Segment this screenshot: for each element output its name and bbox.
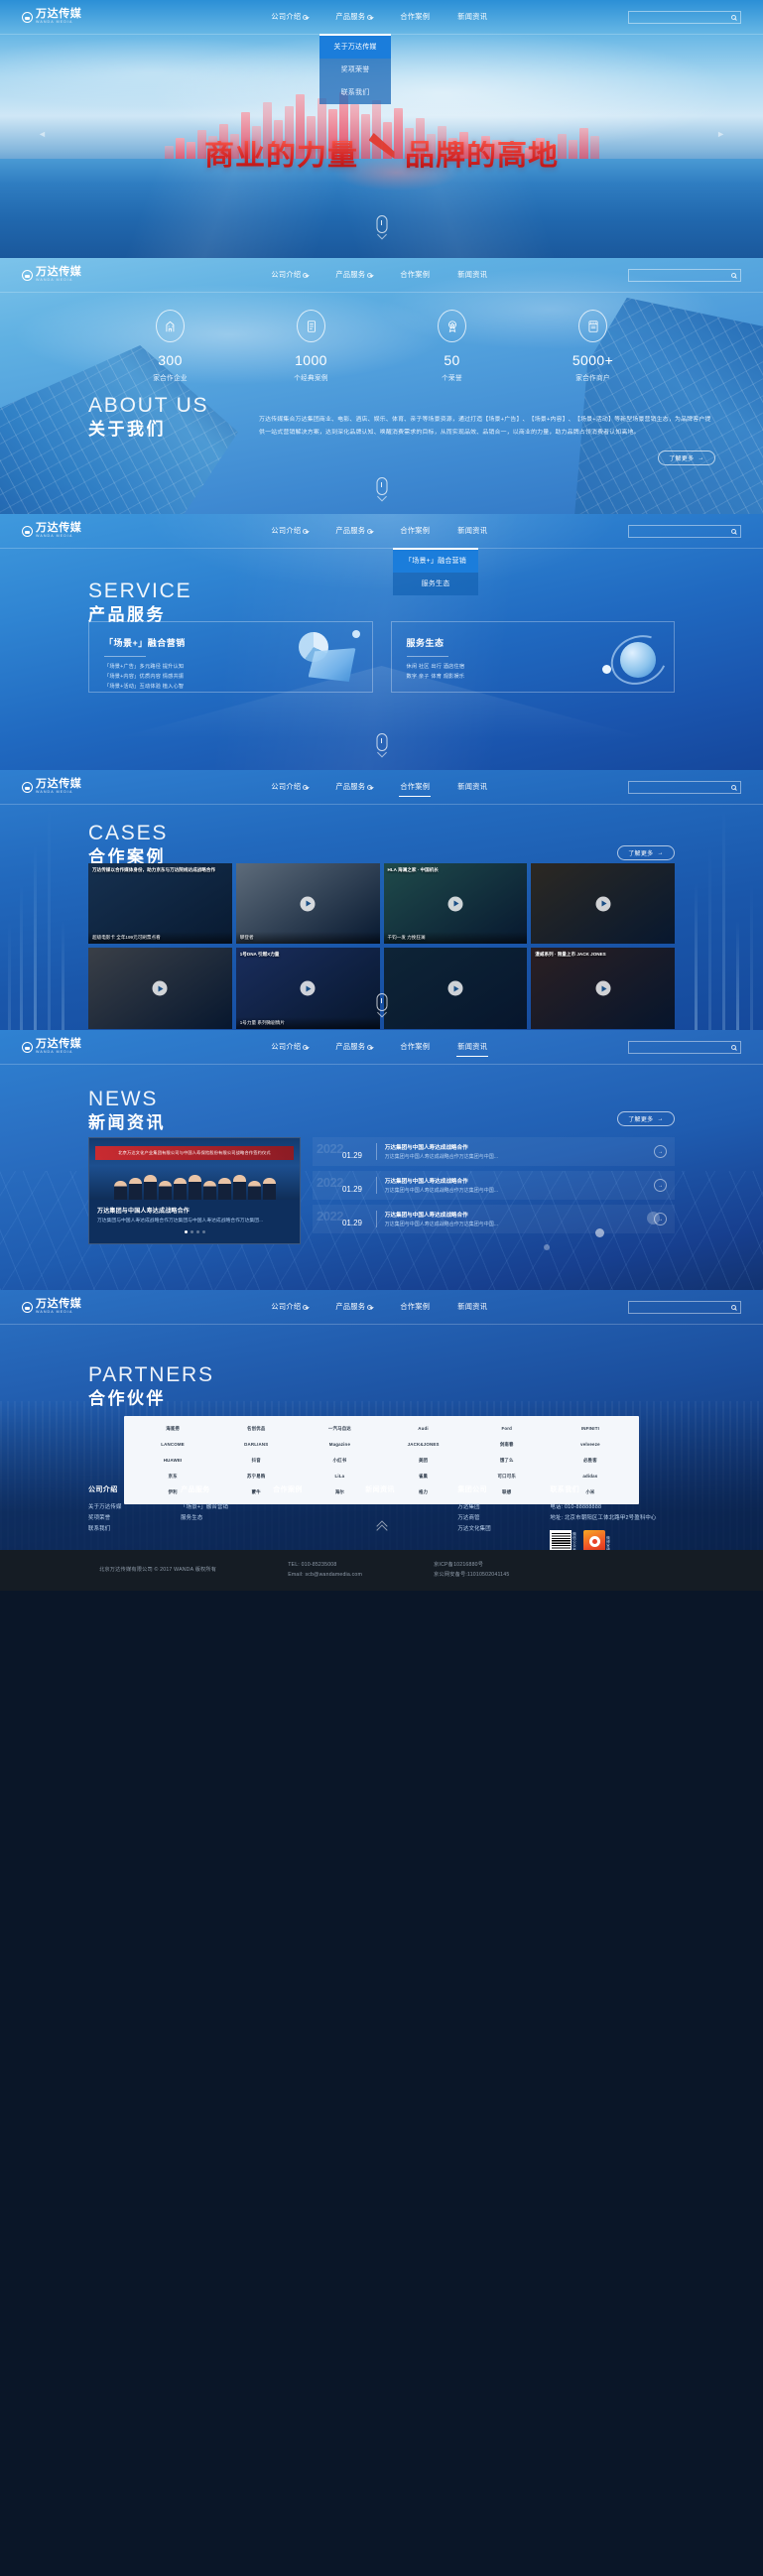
nav-label: 产品服务 xyxy=(335,782,365,792)
nav-item-company[interactable]: 公司介绍 xyxy=(270,1038,309,1056)
nav-label: 产品服务 xyxy=(335,526,365,536)
person-silhouette xyxy=(248,1181,261,1200)
partner-logo: LANCOME xyxy=(133,1439,212,1450)
wanda-circle-logo-icon xyxy=(22,1302,33,1313)
news-featured-card[interactable]: 北京万达文化产业集团有限公司与中国人寿保险股份有限公司战略合作签约仪式 万达集团… xyxy=(88,1137,301,1244)
nav-menu: 公司介绍 产品服务 合作案例 新闻资讯 xyxy=(270,8,488,26)
main-navbar: 万达传媒 WANDA MEDIA 公司介绍 产品服务 合作案例 新闻资讯 xyxy=(0,1290,763,1324)
person-silhouette xyxy=(263,1178,276,1200)
news-content: 北京万达文化产业集团有限公司与中国人寿保险股份有限公司战略合作签约仪式 万达集团… xyxy=(88,1137,675,1244)
play-icon[interactable] xyxy=(153,981,168,996)
partners-heading: PARTNERS 合作伙伴 xyxy=(88,1363,214,1409)
partner-logo: 名创优品 xyxy=(216,1423,296,1434)
wechat-qr-block[interactable]: 微信公众号 xyxy=(550,1530,577,1550)
partner-logo: 雀巢 xyxy=(383,1471,462,1481)
search-icon[interactable] xyxy=(731,273,736,278)
dropdown-company-menu: 关于万达传媒 奖项荣誉 联系我们 xyxy=(319,34,391,104)
search-icon[interactable] xyxy=(731,15,736,20)
nav-item-product[interactable]: 产品服务 xyxy=(334,522,373,540)
nav-item-cases[interactable]: 合作案例 xyxy=(399,1298,431,1316)
person-silhouette xyxy=(129,1178,142,1200)
service-card-scene-marketing[interactable]: 「场景+」融合营销 「场景+广告」多元路径 提升认知 「场景+内容」优质内容 情… xyxy=(88,621,373,693)
nav-menu: 公司介绍 产品服务 合作案例 新闻资讯 xyxy=(270,522,488,540)
footer-qr-row: 微信公众号 微博官博 xyxy=(550,1530,675,1550)
dropdown-item-about[interactable]: 关于万达传媒 xyxy=(319,36,391,59)
decor-bubble xyxy=(544,1244,550,1250)
chevron-down-icon xyxy=(367,1045,372,1050)
nav-label: 产品服务 xyxy=(335,1302,365,1312)
nav-label: 产品服务 xyxy=(335,12,365,22)
hero-section: 商业的力量 品牌的高地 万达传媒 WANDA MEDIA 公司介绍 产品服务 xyxy=(0,0,763,258)
light-ray xyxy=(20,883,23,1030)
person-silhouette xyxy=(114,1181,127,1200)
search-box[interactable] xyxy=(628,525,741,538)
footer-col-cases: 合作案例 xyxy=(273,1484,365,1550)
news-row[interactable]: 202201.29万达集团与中国人寿达成战略合作万达集团与中国人寿达成战略合作万… xyxy=(313,1205,675,1233)
stat-label: 家合作企业 xyxy=(137,372,204,382)
partner-logo: INFINITI xyxy=(551,1423,630,1434)
chevron-down-icon xyxy=(367,785,372,790)
main-navbar: 万达传媒 WANDA MEDIA 公司介绍 产品服务 合作案例 新闻资讯 xyxy=(0,0,763,34)
case-thumbnail[interactable]: HLA 海澜之家 · 中国机长千钧一发 力挽狂澜 xyxy=(384,863,528,944)
nav-item-cases[interactable]: 合作案例 xyxy=(399,1038,431,1056)
play-icon[interactable] xyxy=(447,981,462,996)
logo-text-en: WANDA MEDIA xyxy=(36,535,81,539)
stat-companies: 300 家合作企业 xyxy=(137,310,204,382)
news-featured-title: 万达集团与中国人寿达成战略合作 xyxy=(97,1206,292,1215)
footer-link[interactable]: 服务生态 xyxy=(181,1513,273,1524)
nav-label: 新闻资讯 xyxy=(457,526,487,536)
footer-link[interactable]: 「场景+」融合营销 xyxy=(181,1502,273,1513)
hero-next-arrow[interactable]: ► xyxy=(716,129,725,139)
partner-logo: 海底捞 xyxy=(133,1423,212,1434)
nav-label: 合作案例 xyxy=(400,1042,430,1052)
footer-link[interactable]: 联系我们 xyxy=(88,1524,181,1535)
logo-text-en: WANDA MEDIA xyxy=(36,279,81,283)
nav-item-company[interactable]: 公司介绍 xyxy=(270,266,309,284)
chevron-down-icon xyxy=(303,1305,308,1310)
chevron-down-icon xyxy=(303,273,308,278)
search-icon[interactable] xyxy=(731,529,736,534)
nav-item-cases[interactable]: 合作案例 xyxy=(399,522,431,540)
news-year: 2022 xyxy=(317,1209,343,1224)
copyright-police: 京公网安备号:11010502041145 xyxy=(434,1571,509,1581)
navbar-divider xyxy=(0,804,763,805)
nav-label: 公司介绍 xyxy=(271,12,301,22)
service-card-service-ecology[interactable]: 服务生态 休闲 社区 出行 酒店住宿 数字 亲子 体育 观影娱乐 xyxy=(391,621,676,693)
news-subtitle: 万达集团与中国人寿达成战略合作万达集团与中国... xyxy=(385,1187,646,1194)
footer-link[interactable]: 万达商管 xyxy=(457,1513,550,1524)
footer-col-company: 公司介绍 关于万达传媒 奖项荣誉 联系我们 xyxy=(88,1484,181,1550)
logo-text-cn: 万达传媒 xyxy=(36,523,81,534)
cases-section: 万达传媒 WANDA MEDIA 公司介绍 产品服务 合作案例 新闻资讯 xyxy=(0,770,763,1030)
nav-item-product[interactable]: 产品服务 xyxy=(334,1038,373,1056)
case-thumbnail[interactable]: 攀登者 xyxy=(236,863,380,944)
service-cards: 「场景+」融合营销 「场景+广告」多元路径 提升认知 「场景+内容」优质内容 情… xyxy=(88,621,675,693)
case-thumbnail[interactable]: 漫威系列 · 限量上市 JACK JONES xyxy=(531,948,675,1028)
light-ray xyxy=(34,845,37,1030)
nav-item-cases[interactable]: 合作案例 xyxy=(399,266,431,284)
news-photo-banner: 北京万达文化产业集团有限公司与中国人寿保险股份有限公司战略合作签约仪式 xyxy=(95,1146,294,1160)
chevron-down-icon xyxy=(367,1305,372,1310)
wanda-circle-logo-icon xyxy=(22,12,33,23)
nav-menu: 公司介绍 产品服务 合作案例 新闻资讯 xyxy=(270,778,488,797)
logo-text-en: WANDA MEDIA xyxy=(36,1311,81,1315)
stat-label: 家合作商户 xyxy=(560,372,627,382)
search-input[interactable] xyxy=(633,14,731,20)
nav-label: 新闻资讯 xyxy=(457,782,487,792)
search-input[interactable] xyxy=(633,272,731,278)
footer-phone: 电话: 010-88888888 xyxy=(550,1502,675,1513)
site-logo[interactable]: 万达传媒 WANDA MEDIA xyxy=(22,1299,81,1315)
scroll-down-cue[interactable] xyxy=(376,993,387,1016)
hero-headline: 商业的力量 品牌的高地 xyxy=(0,133,763,171)
about-more-button[interactable]: 了解更多 → xyxy=(658,451,715,465)
search-input[interactable] xyxy=(633,528,731,534)
play-icon[interactable] xyxy=(447,896,462,911)
news-date: 202201.29 xyxy=(317,1176,368,1195)
chevron-down-icon xyxy=(303,15,308,20)
footer-col-contact: 联系我们 电话: 010-88888888 地址: 北京市朝阳区工体北路甲2号盈… xyxy=(550,1484,675,1550)
partner-logo: adidas xyxy=(551,1471,630,1481)
hero-prev-arrow[interactable]: ◄ xyxy=(38,129,47,139)
light-ray xyxy=(48,808,51,1030)
partner-logo: 京东 xyxy=(133,1471,212,1481)
partners-title-cn: 合作伙伴 xyxy=(88,1389,214,1409)
case-top-text: 漫威系列 · 限量上市 JACK JONES xyxy=(535,952,671,958)
nav-label: 新闻资讯 xyxy=(457,1042,487,1052)
case-caption: 超级电影卡 全年199元可刷票点看 xyxy=(88,932,232,944)
orbit-sphere-illustration xyxy=(600,628,664,686)
nav-item-product[interactable]: 产品服务 xyxy=(334,266,373,284)
service-title-en: SERVICE xyxy=(88,580,191,602)
light-ray xyxy=(62,921,64,1030)
nav-item-company[interactable]: 公司介绍 xyxy=(270,778,309,796)
light-ray xyxy=(8,921,11,1030)
arrow-right-icon: → xyxy=(657,1116,663,1122)
footer-link[interactable]: 万达文化集团 xyxy=(457,1524,550,1535)
nav-label: 合作案例 xyxy=(400,782,430,792)
light-ray xyxy=(722,808,725,1030)
news-subtitle: 万达集团与中国人寿达成战略合作万达集团与中国... xyxy=(385,1221,646,1227)
site-logo[interactable]: 万达传媒 WANDA MEDIA xyxy=(22,1039,81,1055)
nav-label: 合作案例 xyxy=(400,270,430,280)
play-icon[interactable] xyxy=(595,981,610,996)
nav-label: 公司介绍 xyxy=(271,782,301,792)
footer-col-product: 产品服务 「场景+」融合营销 服务生态 xyxy=(181,1484,273,1550)
logo-text-en: WANDA MEDIA xyxy=(36,1051,81,1055)
building-icon xyxy=(156,310,185,342)
news-featured-desc: 万达集团与中国人寿达成战略合作万达集团与中国人寿达成战略合作万达集团... xyxy=(97,1218,292,1224)
divider xyxy=(407,656,448,657)
nav-menu: 公司介绍 产品服务 合作案例 新闻资讯 xyxy=(270,1038,488,1057)
nav-label: 产品服务 xyxy=(335,1042,365,1052)
news-monthday: 01.29 xyxy=(342,1185,362,1194)
carousel-dot[interactable] xyxy=(191,1230,193,1233)
search-box[interactable] xyxy=(628,269,741,282)
nav-item-cases[interactable]: 合作案例 xyxy=(399,8,431,26)
partner-logo: 苏宁易购 xyxy=(216,1471,296,1481)
news-list: 202201.29万达集团与中国人寿达成战略合作万达集团与中国人寿达成战略合作万… xyxy=(313,1137,675,1244)
nav-label: 合作案例 xyxy=(400,12,430,22)
arrow-right-icon: → xyxy=(657,850,663,856)
nav-item-product[interactable]: 产品服务 xyxy=(334,8,373,26)
nav-item-product[interactable]: 产品服务 xyxy=(334,1298,373,1316)
play-icon[interactable] xyxy=(301,981,316,996)
news-title-cn: 新闻资讯 xyxy=(88,1113,166,1133)
wechat-qr-icon xyxy=(550,1530,572,1550)
weibo-block[interactable]: 微博官博 xyxy=(583,1530,611,1550)
light-ray xyxy=(708,845,711,1030)
news-section: 万达传媒 WANDA MEDIA 公司介绍 产品服务 合作案例 新闻资讯 xyxy=(0,1030,763,1290)
about-body-text: 万达传媒集合万达集团商业、电影、酒店、娱乐、体育、亲子等场景资源，通过打造【场景… xyxy=(259,394,715,439)
search-input[interactable] xyxy=(633,1044,731,1050)
person-silhouette xyxy=(159,1181,172,1200)
storefront-icon xyxy=(578,310,607,342)
partner-logo: 剑南春 xyxy=(467,1439,547,1450)
service-section: 万达传媒 WANDA MEDIA 公司介绍 产品服务 合作案例 新闻资讯 xyxy=(0,514,763,770)
partner-logo: 必胜客 xyxy=(551,1455,630,1466)
partner-logo: JACK&JONES xyxy=(383,1439,462,1450)
play-icon[interactable] xyxy=(595,896,610,911)
about-content: ABOUT US 关于我们 万达传媒集合万达集团商业、电影、酒店、娱乐、体育、亲… xyxy=(88,394,715,465)
satellite-dot xyxy=(602,665,611,674)
scroll-down-cue[interactable] xyxy=(376,477,387,500)
back-to-top-button[interactable] xyxy=(378,1522,386,1530)
logo-text-en: WANDA MEDIA xyxy=(36,21,81,25)
stat-number: 50 xyxy=(419,353,486,368)
stats-row: 300 家合作企业 1000 个经典案例 50 个荣誉 xyxy=(0,310,763,382)
footer-heading: 联系我们 xyxy=(550,1484,675,1494)
logo-text-cn: 万达传媒 xyxy=(36,1039,81,1050)
case-caption: 千钧一发 力挽狂澜 xyxy=(384,932,528,944)
x-mark-icon xyxy=(369,133,395,159)
arrow-right-icon[interactable]: → xyxy=(654,1145,667,1158)
footer-heading: 集团公司 xyxy=(457,1484,550,1494)
navbar-divider xyxy=(0,1324,763,1325)
stat-merchants: 5000+ 家合作商户 xyxy=(560,310,627,382)
logo-text-cn: 万达传媒 xyxy=(36,779,81,790)
footer-heading: 公司介绍 xyxy=(88,1484,181,1494)
search-icon[interactable] xyxy=(731,785,736,790)
partner-logo: 可口可乐 xyxy=(467,1471,547,1481)
person-silhouette xyxy=(218,1178,231,1200)
logo-text-cn: 万达传媒 xyxy=(36,1299,81,1310)
dropdown-item-service-ecology[interactable]: 服务生态 xyxy=(393,573,478,595)
case-thumbnail[interactable]: 万达传媒以合作媒体身份，助力京东与万达院线达成战略合作超级电影卡 全年199元可… xyxy=(88,863,232,944)
hero-title-right: 品牌的高地 xyxy=(405,141,559,171)
dropdown-item-contact[interactable]: 联系我们 xyxy=(319,81,391,104)
weibo-icon xyxy=(583,1530,605,1550)
wanda-circle-logo-icon xyxy=(22,270,33,281)
news-subtitle: 万达集团与中国人寿达成战略合作万达集团与中国... xyxy=(385,1153,646,1160)
search-input[interactable] xyxy=(633,784,731,790)
about-title-en: ABOUT US xyxy=(88,394,239,417)
case-thumbnail[interactable] xyxy=(384,948,528,1028)
nav-item-company[interactable]: 公司介绍 xyxy=(270,8,309,26)
chevron-down-icon xyxy=(303,1045,308,1050)
footer-address: 地址: 北京市朝阳区工体北路甲2号盈科中心 xyxy=(550,1513,675,1524)
copyright-left: 北京万达传媒有限公司 © 2017 WANDA 版权所有 xyxy=(99,1566,216,1576)
navbar-divider xyxy=(0,292,763,293)
stat-number: 1000 xyxy=(278,353,345,368)
nav-menu: 公司介绍 产品服务 合作案例 新闻资讯 xyxy=(270,266,488,284)
search-box[interactable] xyxy=(628,1301,741,1314)
cases-more-button[interactable]: 了解更多 → xyxy=(617,845,675,860)
nav-item-news[interactable]: 新闻资讯 xyxy=(456,266,488,284)
site-footer: 公司介绍 关于万达传媒 奖项荣誉 联系我们 产品服务 「场景+」融合营销 服务生… xyxy=(88,1484,675,1550)
nav-item-news[interactable]: 新闻资讯 xyxy=(456,8,488,26)
case-thumbnail[interactable] xyxy=(88,948,232,1028)
news-heading: NEWS 新闻资讯 xyxy=(88,1088,166,1133)
footer-link[interactable]: 奖项荣誉 xyxy=(88,1513,181,1524)
partner-logo: 一汽马自达 xyxy=(300,1423,379,1434)
case-top-text: HLA 海澜之家 · 中国机长 xyxy=(388,867,524,873)
nav-item-news[interactable]: 新闻资讯 xyxy=(456,778,488,796)
scroll-down-cue[interactable] xyxy=(376,733,387,756)
partner-logo: Audi xyxy=(383,1423,462,1434)
award-badge-icon xyxy=(438,310,466,342)
more-label: 了解更多 xyxy=(628,848,653,857)
light-ray xyxy=(736,921,739,1030)
person-silhouette xyxy=(174,1178,187,1200)
logo-text-en: WANDA MEDIA xyxy=(36,791,81,795)
main-navbar: 万达传媒 WANDA MEDIA 公司介绍 产品服务 合作案例 新闻资讯 xyxy=(0,514,763,548)
search-icon[interactable] xyxy=(731,1305,736,1310)
person-silhouette xyxy=(189,1175,201,1200)
dropdown-item-awards[interactable]: 奖项荣誉 xyxy=(319,59,391,81)
nav-label: 新闻资讯 xyxy=(457,270,487,280)
case-caption: 攀登者 xyxy=(236,932,380,944)
nav-item-company[interactable]: 公司介绍 xyxy=(270,522,309,540)
light-ray xyxy=(695,883,698,1030)
sea-illustration xyxy=(0,159,763,258)
nav-label: 新闻资讯 xyxy=(457,12,487,22)
scroll-down-cue[interactable] xyxy=(376,215,387,238)
news-more-button[interactable]: 了解更多 → xyxy=(617,1111,675,1126)
logo-text-cn: 万达传媒 xyxy=(36,9,81,20)
nav-label: 公司介绍 xyxy=(271,270,301,280)
search-box[interactable] xyxy=(628,11,741,24)
case-thumbnail[interactable]: 1号DNA 引燃X力量1号力量 系列微剧情片 xyxy=(236,948,380,1028)
accent-dot xyxy=(352,630,360,638)
news-date: 202201.29 xyxy=(317,1210,368,1228)
footer-col-news: 新闻资讯 xyxy=(365,1484,457,1550)
nav-item-company[interactable]: 公司介绍 xyxy=(270,1298,309,1316)
nav-item-product[interactable]: 产品服务 xyxy=(334,778,373,796)
person-silhouette xyxy=(203,1181,216,1200)
partners-section: 万达传媒 WANDA MEDIA 公司介绍 产品服务 合作案例 新闻资讯 xyxy=(0,1290,763,1550)
nav-label: 公司介绍 xyxy=(271,1302,301,1312)
footer-heading: 产品服务 xyxy=(181,1484,273,1494)
main-navbar: 万达传媒 WANDA MEDIA 公司介绍 产品服务 合作案例 新闻资讯 xyxy=(0,1030,763,1064)
navbar-divider xyxy=(0,1064,763,1065)
news-title: 万达集团与中国人寿达成战略合作 xyxy=(385,1177,646,1185)
cases-heading: CASES 合作案例 xyxy=(88,822,168,867)
divider xyxy=(104,656,146,657)
laptop-shape xyxy=(309,648,356,682)
news-monthday: 01.29 xyxy=(342,1151,362,1160)
site-logo[interactable]: 万达传媒 WANDA MEDIA xyxy=(22,267,81,283)
nav-menu: 公司介绍 产品服务 合作案例 新闻资讯 xyxy=(270,1298,488,1316)
stat-number: 300 xyxy=(137,353,204,368)
news-row[interactable]: 202201.29万达集团与中国人寿达成战略合作万达集团与中国人寿达成战略合作万… xyxy=(313,1137,675,1166)
case-thumbnail[interactable] xyxy=(531,863,675,944)
nav-item-news[interactable]: 新闻资讯 xyxy=(456,522,488,540)
footer-link[interactable]: 关于万达传媒 xyxy=(88,1502,181,1513)
site-logo[interactable]: 万达传媒 WANDA MEDIA xyxy=(22,9,81,25)
news-title: 万达集团与中国人寿达成战略合作 xyxy=(385,1143,646,1151)
carousel-dot[interactable] xyxy=(196,1230,199,1233)
carousel-dot[interactable] xyxy=(202,1230,205,1233)
document-icon xyxy=(297,310,325,342)
partner-logo: HUAWEI xyxy=(133,1455,212,1466)
wanda-circle-logo-icon xyxy=(22,526,33,537)
nav-item-news[interactable]: 新闻资讯 xyxy=(456,1298,488,1316)
news-year: 2022 xyxy=(317,1141,343,1156)
search-box[interactable] xyxy=(628,1041,741,1054)
nav-item-news[interactable]: 新闻资讯 xyxy=(456,1038,488,1057)
copyright-bar: 北京万达传媒有限公司 © 2017 WANDA 版权所有 TEL: 010-85… xyxy=(0,1550,763,1591)
about-section: 万达传媒 WANDA MEDIA 公司介绍 产品服务 合作案例 新闻资讯 xyxy=(0,258,763,514)
case-top-text: 1号DNA 引燃X力量 xyxy=(240,952,376,958)
stat-cases: 1000 个经典案例 xyxy=(278,310,345,382)
chevron-down-icon xyxy=(303,529,308,534)
nav-label: 公司介绍 xyxy=(271,526,301,536)
footer-heading: 合作案例 xyxy=(273,1484,365,1494)
arrow-right-icon[interactable]: → xyxy=(654,1213,667,1225)
chevron-down-icon xyxy=(367,529,372,534)
hero-title-left: 商业的力量 xyxy=(204,141,358,171)
person-silhouette xyxy=(144,1175,157,1200)
chevron-down-icon xyxy=(303,785,308,790)
site-logo[interactable]: 万达传媒 WANDA MEDIA xyxy=(22,779,81,795)
search-input[interactable] xyxy=(633,1304,731,1310)
news-row[interactable]: 202201.29万达集团与中国人寿达成战略合作万达集团与中国人寿达成战略合作万… xyxy=(313,1171,675,1200)
stat-label: 个荣誉 xyxy=(419,372,486,382)
partner-logo: 抖音 xyxy=(216,1455,296,1466)
nav-label: 合作案例 xyxy=(400,1302,430,1312)
carousel-dot[interactable] xyxy=(185,1230,188,1233)
copyright-icp: 京ICP备10216880号 xyxy=(434,1561,509,1571)
footer-link[interactable]: 万达集团 xyxy=(457,1502,550,1513)
divider xyxy=(376,1177,377,1194)
partner-logo: 美团 xyxy=(383,1455,462,1466)
about-title-cn: 关于我们 xyxy=(88,420,239,440)
partner-logo: DARLIANS xyxy=(216,1439,296,1450)
more-label: 了解更多 xyxy=(628,1114,653,1123)
cases-title-en: CASES xyxy=(88,822,168,844)
partners-title-en: PARTNERS xyxy=(88,1363,214,1386)
chevron-down-icon xyxy=(367,15,372,20)
search-icon[interactable] xyxy=(731,1045,736,1050)
footer-heading: 新闻资讯 xyxy=(365,1484,457,1494)
about-heading: ABOUT US 关于我们 xyxy=(88,394,239,465)
partner-logo: 小红书 xyxy=(300,1455,379,1466)
dropdown-item-scene-marketing[interactable]: 「场景+」融合营销 xyxy=(393,550,478,573)
footer-col-group: 集团公司 万达集团 万达商管 万达文化集团 xyxy=(457,1484,550,1550)
case-caption: 1号力量 系列微剧情片 xyxy=(236,1017,380,1029)
partner-logo: Ford xyxy=(467,1423,547,1434)
wanda-circle-logo-icon xyxy=(22,1042,33,1053)
nav-item-cases[interactable]: 合作案例 xyxy=(399,778,431,797)
more-label: 了解更多 xyxy=(669,453,694,462)
site-logo[interactable]: 万达传媒 WANDA MEDIA xyxy=(22,523,81,539)
play-icon[interactable] xyxy=(301,896,316,911)
copyright-tel: TEL: 010-85235008 xyxy=(288,1561,362,1571)
search-box[interactable] xyxy=(628,781,741,794)
arrow-right-icon[interactable]: → xyxy=(654,1179,667,1192)
